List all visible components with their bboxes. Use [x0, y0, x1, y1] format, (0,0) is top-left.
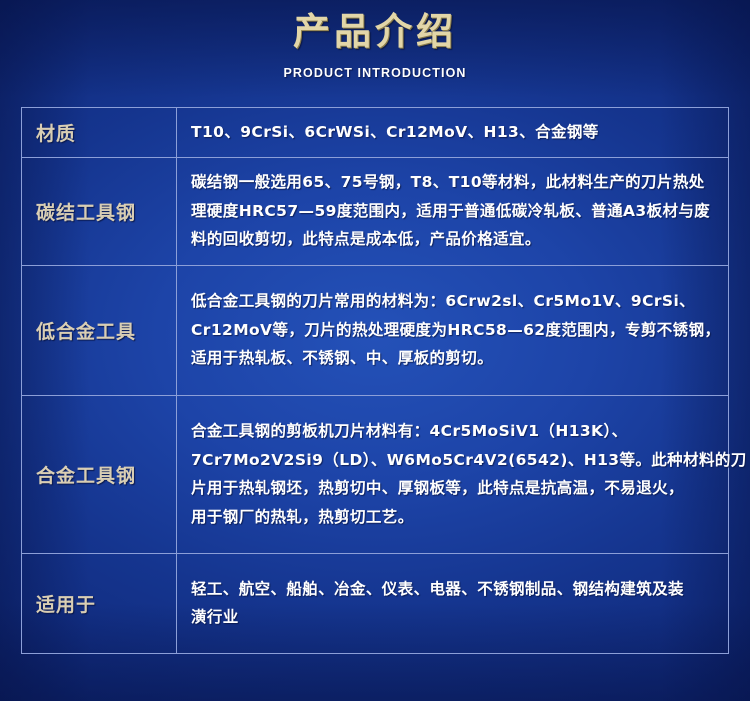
page-subtitle: PRODUCT INTRODUCTION [0, 66, 750, 80]
table-row: 低合金工具 低合金工具钢的刀片常用的材料为：6Crw2sl、Cr5Mo1V、9C… [22, 265, 729, 395]
value-line: 碳结钢一般选用65、75号钢，T8、T10等材料，此材料生产的刀片热处 [191, 168, 718, 197]
value-line: 轻工、航空、船舶、冶金、仪表、电器、不锈钢制品、钢结构建筑及装 [191, 575, 718, 604]
row-value: 碳结钢一般选用65、75号钢，T8、T10等材料，此材料生产的刀片热处 理硬度H… [191, 168, 718, 254]
table-row: 适用于 轻工、航空、船舶、冶金、仪表、电器、不锈钢制品、钢结构建筑及装 潢行业 [22, 553, 729, 653]
row-label: 低合金工具 [36, 321, 136, 343]
value-line: 合金工具钢的剪板机刀片材料有：4Cr5MoSiV1（H13K）、 [191, 417, 718, 446]
row-label: 材质 [36, 123, 76, 145]
row-label: 合金工具钢 [36, 465, 136, 487]
row-value: 低合金工具钢的刀片常用的材料为：6Crw2sl、Cr5Mo1V、9CrSi、 C… [191, 287, 718, 373]
value-line: Cr12MoV等，刀片的热处理硬度为HRC58—62度范围内，专剪不锈钢， [191, 316, 718, 345]
row-label: 碳结工具钢 [36, 202, 136, 224]
page-header: 产品介绍 PRODUCT INTRODUCTION [0, 8, 750, 80]
row-label-cell-applicable-to: 适用于 [22, 553, 177, 653]
product-introduction-page: 产品介绍 PRODUCT INTRODUCTION 材质 T10、9CrSi、6… [0, 0, 750, 701]
value-line: 料的回收剪切，此特点是成本低，产品价格适宜。 [191, 225, 718, 254]
table-row: 材质 T10、9CrSi、6CrWSi、Cr12MoV、H13、合金钢等 [22, 108, 729, 158]
row-label-cell-low-alloy-tool: 低合金工具 [22, 265, 177, 395]
row-value-cell-material: T10、9CrSi、6CrWSi、Cr12MoV、H13、合金钢等 [177, 108, 729, 158]
value-line: 片用于热轧钢坯，热剪切中、厚钢板等，此特点是抗高温，不易退火， [191, 474, 718, 503]
table-row: 合金工具钢 合金工具钢的剪板机刀片材料有：4Cr5MoSiV1（H13K）、 7… [22, 395, 729, 553]
row-value: T10、9CrSi、6CrWSi、Cr12MoV、H13、合金钢等 [191, 118, 718, 147]
table-body: 材质 T10、9CrSi、6CrWSi、Cr12MoV、H13、合金钢等 碳结工… [22, 108, 729, 654]
row-value: 合金工具钢的剪板机刀片材料有：4Cr5MoSiV1（H13K）、 7Cr7Mo2… [191, 417, 718, 531]
row-value: 轻工、航空、船舶、冶金、仪表、电器、不锈钢制品、钢结构建筑及装 潢行业 [191, 575, 718, 632]
value-line: T10、9CrSi、6CrWSi、Cr12MoV、H13、合金钢等 [191, 118, 718, 147]
value-line: 低合金工具钢的刀片常用的材料为：6Crw2sl、Cr5Mo1V、9CrSi、 [191, 287, 718, 316]
value-line: 理硬度HRC57—59度范围内，适用于普通低碳冷轧板、普通A3板材与废 [191, 197, 718, 226]
specification-table: 材质 T10、9CrSi、6CrWSi、Cr12MoV、H13、合金钢等 碳结工… [21, 107, 729, 654]
value-line: 用于钢厂的热轧，热剪切工艺。 [191, 503, 718, 532]
row-label-cell-carbon-tool-steel: 碳结工具钢 [22, 157, 177, 265]
row-value-cell-low-alloy-tool: 低合金工具钢的刀片常用的材料为：6Crw2sl、Cr5Mo1V、9CrSi、 C… [177, 265, 729, 395]
row-value-cell-alloy-tool-steel: 合金工具钢的剪板机刀片材料有：4Cr5MoSiV1（H13K）、 7Cr7Mo2… [177, 395, 729, 553]
page-title: 产品介绍 [0, 8, 750, 56]
row-label-cell-alloy-tool-steel: 合金工具钢 [22, 395, 177, 553]
row-value-cell-carbon-tool-steel: 碳结钢一般选用65、75号钢，T8、T10等材料，此材料生产的刀片热处 理硬度H… [177, 157, 729, 265]
table-row: 碳结工具钢 碳结钢一般选用65、75号钢，T8、T10等材料，此材料生产的刀片热… [22, 157, 729, 265]
row-label-cell-material: 材质 [22, 108, 177, 158]
value-line: 适用于热轧板、不锈钢、中、厚板的剪切。 [191, 344, 718, 373]
value-line: 潢行业 [191, 603, 718, 632]
value-line: 7Cr7Mo2V2Si9（LD）、W6Mo5Cr4V2(6542)、H13等。此… [191, 446, 718, 475]
row-value-cell-applicable-to: 轻工、航空、船舶、冶金、仪表、电器、不锈钢制品、钢结构建筑及装 潢行业 [177, 553, 729, 653]
row-label: 适用于 [36, 594, 96, 616]
